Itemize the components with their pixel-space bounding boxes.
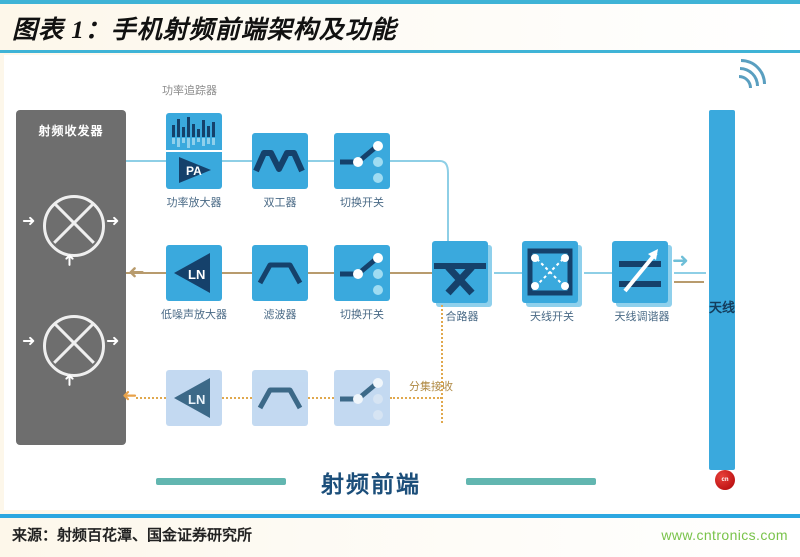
banner-line-right (466, 478, 596, 485)
tx-line-segment (126, 160, 166, 162)
filter-icon (252, 370, 308, 426)
banner-line-left (156, 478, 286, 485)
diversity-receive-label: 分集接收 (409, 378, 453, 394)
power-amplifier-icon: PA (166, 113, 222, 189)
banner-title: 射频前端 (321, 465, 421, 499)
antenna-label: 天线 (709, 300, 735, 315)
rx-line-segment (390, 272, 432, 274)
svg-text:LN: LN (188, 267, 205, 282)
shared-line-segment (584, 272, 612, 274)
power-amplifier-block: PA (166, 113, 222, 189)
low-noise-amplifier-icon: LN (166, 370, 222, 426)
block-label-rx-switch: 切换开关 (340, 306, 384, 322)
diversity-dotted-connector (390, 397, 442, 399)
header-top-rule (0, 0, 800, 4)
shared-line-segment (674, 281, 704, 283)
filter-block (252, 245, 308, 301)
block-label-antenna-switch: 天线开关 (530, 308, 574, 324)
diversity-dotted-connector (441, 305, 443, 423)
antenna-switch-icon (522, 241, 578, 303)
tx-line-segment (308, 160, 334, 162)
antenna-feed-arrow-icon: ➜ (672, 251, 689, 271)
low-noise-amplifier-block: LN (166, 245, 222, 301)
svg-text:LN: LN (188, 392, 205, 407)
combiner-block (432, 241, 488, 303)
low-noise-amplifier-icon: LN (166, 245, 222, 301)
rx-direction-arrow-icon: ➜ (128, 262, 145, 282)
mixer-in-arrow-icon: ➜ (22, 214, 35, 230)
mixer-in-arrow-icon: ➜ (22, 334, 35, 350)
page-background: 图表 1：手机射频前端架构及功能 射频收发器 ➜ ➜ ➜ ➜ ➜ ➜ 功率追踪器 (0, 0, 800, 557)
antenna-tuner-icon (612, 241, 668, 303)
power-tracker-label: 功率追踪器 (162, 82, 217, 98)
block-label-power-amplifier: 功率放大器 (167, 194, 222, 210)
switch-icon (334, 133, 390, 189)
svg-text:PA: PA (186, 164, 202, 178)
diversity-direction-arrow-icon: ➜ (122, 387, 137, 405)
antenna-switch-block (522, 241, 578, 303)
site-url: www.cntronics.com (661, 527, 788, 543)
mixer-out-arrow-icon: ➜ (106, 214, 119, 230)
footer-rule (0, 514, 800, 518)
duplexer-block (252, 133, 308, 189)
mixer-out-arrow-icon: ➜ (106, 334, 119, 350)
block-label-combiner: 合路器 (446, 308, 479, 324)
antenna-bar (709, 110, 735, 470)
rf-transceiver-label: 射频收发器 (16, 122, 126, 139)
duplexer-icon (252, 133, 308, 189)
block-label-filter: 滤波器 (264, 306, 297, 322)
diversity-dotted-connector (136, 397, 166, 399)
rf-transceiver-block: 射频收发器 ➜ ➜ ➜ ➜ ➜ ➜ (16, 110, 126, 445)
rx-switch-block (334, 245, 390, 301)
diversity-filter-block (252, 370, 308, 426)
diversity-switch-block (334, 370, 390, 426)
tx-switch-block (334, 133, 390, 189)
mixer-icon (43, 315, 105, 377)
diagram-canvas: 射频收发器 ➜ ➜ ➜ ➜ ➜ ➜ 功率追踪器 (4, 55, 796, 510)
filter-icon (252, 245, 308, 301)
block-label-lna: 低噪声放大器 (161, 306, 227, 322)
mixer-icon (43, 195, 105, 257)
header-bottom-rule (0, 50, 800, 53)
diversity-dotted-connector (308, 397, 334, 399)
diversity-dotted-connector (222, 397, 252, 399)
mixer-lo-arrow-icon: ➜ (63, 373, 79, 386)
combiner-icon (432, 241, 488, 303)
switch-icon (334, 245, 390, 301)
source-note: 来源：射频百花潭、国金证券研究所 (12, 524, 252, 545)
mixer-lo-arrow-icon: ➜ (63, 253, 79, 266)
cntronics-logo: cn (715, 470, 735, 490)
tx-line-segment (222, 160, 252, 162)
antenna-tuner-block (612, 241, 668, 303)
block-label-duplexer: 双工器 (264, 194, 297, 210)
shared-line-segment (494, 272, 522, 274)
shared-line-segment (674, 272, 706, 274)
page-title: 图表 1：手机射频前端架构及功能 (12, 10, 772, 44)
block-label-tx-switch: 切换开关 (340, 194, 384, 210)
rx-line-segment (308, 272, 334, 274)
switch-icon (334, 370, 390, 426)
block-label-antenna-tuner: 天线调谐器 (615, 308, 670, 324)
diversity-lna-block: LN (166, 370, 222, 426)
rx-line-segment (222, 272, 252, 274)
